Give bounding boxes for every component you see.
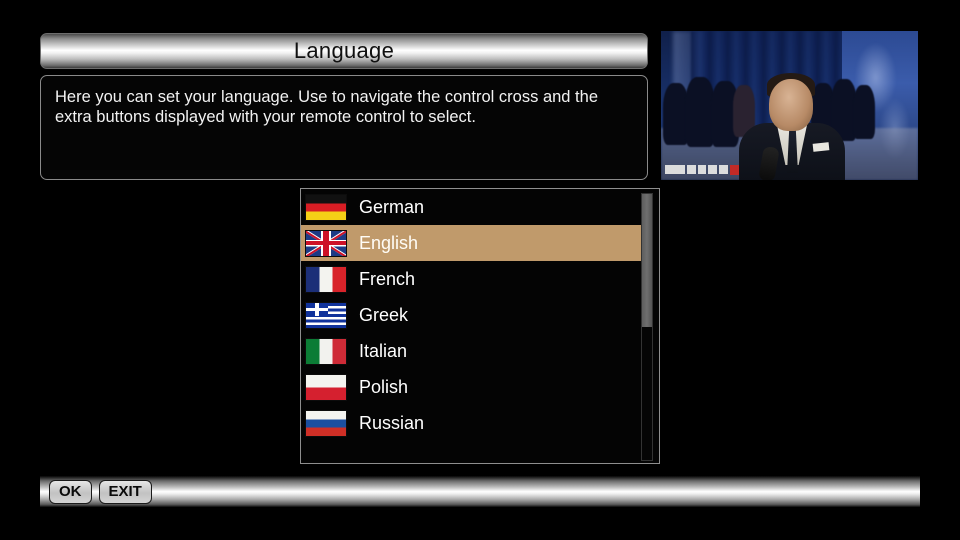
flag-greece-icon <box>305 302 347 329</box>
flag-germany-icon <box>305 194 347 221</box>
list-item-polish[interactable]: Polish <box>301 369 643 405</box>
list-item-greek[interactable]: Greek <box>301 297 643 333</box>
softkey-bar: OK EXIT <box>40 476 920 507</box>
flag-poland-icon <box>305 374 347 401</box>
list-item-italian[interactable]: Italian <box>301 333 643 369</box>
description-text: Here you can set your language. Use to n… <box>55 87 633 127</box>
list-item-label: Russian <box>359 413 424 434</box>
list-item-french[interactable]: French <box>301 261 643 297</box>
channel-logo-bug <box>665 164 739 175</box>
page-title-bar: Language <box>40 33 648 69</box>
list-item-label: French <box>359 269 415 290</box>
osd-screen: Language Here you can set your language.… <box>0 0 960 540</box>
video-reporter-head <box>769 79 813 131</box>
video-crowd-figure <box>853 85 875 139</box>
ok-button[interactable]: OK <box>49 480 92 504</box>
flag-russia-icon <box>305 410 347 437</box>
list-item-label: Greek <box>359 305 408 326</box>
page-title: Language <box>294 38 394 64</box>
language-list[interactable]: German English French Greek <box>301 189 643 441</box>
scrollbar[interactable] <box>641 193 653 461</box>
flag-france-icon <box>305 266 347 293</box>
list-item-russian[interactable]: Russian <box>301 405 643 441</box>
list-item-label: Italian <box>359 341 407 362</box>
list-item-label: Polish <box>359 377 408 398</box>
language-list-panel[interactable]: German English French Greek <box>300 188 660 464</box>
list-item-label: German <box>359 197 424 218</box>
description-panel: Here you can set your language. Use to n… <box>40 75 648 180</box>
video-pocket-square <box>813 142 830 152</box>
flag-united-kingdom-icon <box>305 230 347 257</box>
exit-button[interactable]: EXIT <box>99 480 152 504</box>
list-item-german[interactable]: German <box>301 189 643 225</box>
flag-italy-icon <box>305 338 347 365</box>
video-preview[interactable] <box>661 31 918 180</box>
scrollbar-thumb[interactable] <box>642 194 652 327</box>
list-item-english[interactable]: English <box>301 225 643 261</box>
list-item-label: English <box>359 233 418 254</box>
